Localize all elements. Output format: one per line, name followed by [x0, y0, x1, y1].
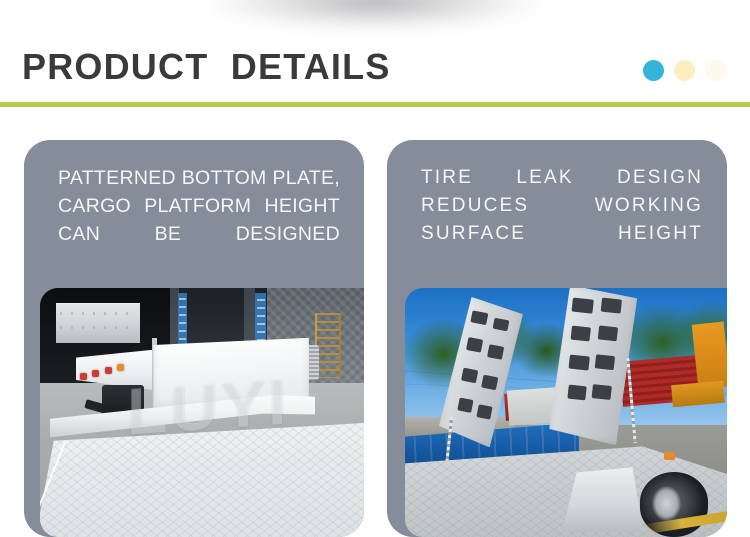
- header-dot-decoration: [643, 60, 726, 81]
- photo-frame-right: [405, 288, 727, 537]
- top-shadow-decoration: [210, 0, 540, 30]
- header-accent-divider: [0, 102, 750, 107]
- photo-gooseneck-trailer-deck: LUYI: [40, 288, 364, 537]
- photo-side-marker-light: [664, 452, 675, 459]
- product-detail-cards: PATTERNED BOTTOM PLATE, CARGO PLATFORM H…: [0, 140, 750, 537]
- photo-orange-machine: [692, 321, 727, 389]
- photo-marker-lights: [79, 360, 124, 380]
- product-details-page: PRODUCT DETAILS PATTERNED BOTTOM PLATE, …: [0, 0, 750, 537]
- photo-parked-box-truck: [56, 303, 140, 343]
- photo-ladder: [315, 313, 341, 378]
- photo-frame-left: LUYI: [40, 288, 364, 537]
- photo-orange-trailer: [671, 380, 724, 407]
- dot-cream-icon: [705, 60, 726, 81]
- card-caption-left: PATTERNED BOTTOM PLATE, CARGO PLATFORM H…: [58, 164, 340, 276]
- page-header: PRODUCT DETAILS: [0, 44, 750, 107]
- photo-watermark-luyi: LUYI: [127, 362, 289, 449]
- card-patterned-bottom-plate: PATTERNED BOTTOM PLATE, CARGO PLATFORM H…: [24, 140, 364, 537]
- dot-yellow-icon: [674, 60, 695, 81]
- card-tire-leak-design: TIRE LEAK DESIGN REDUCES WORKING SURFACE…: [387, 140, 727, 537]
- dot-cyan-icon: [643, 60, 664, 81]
- page-title: PRODUCT DETAILS: [22, 44, 391, 90]
- card-caption-right: TIRE LEAK DESIGN REDUCES WORKING SURFACE…: [421, 164, 703, 276]
- photo-lowboy-trailer-ramps: [405, 288, 727, 537]
